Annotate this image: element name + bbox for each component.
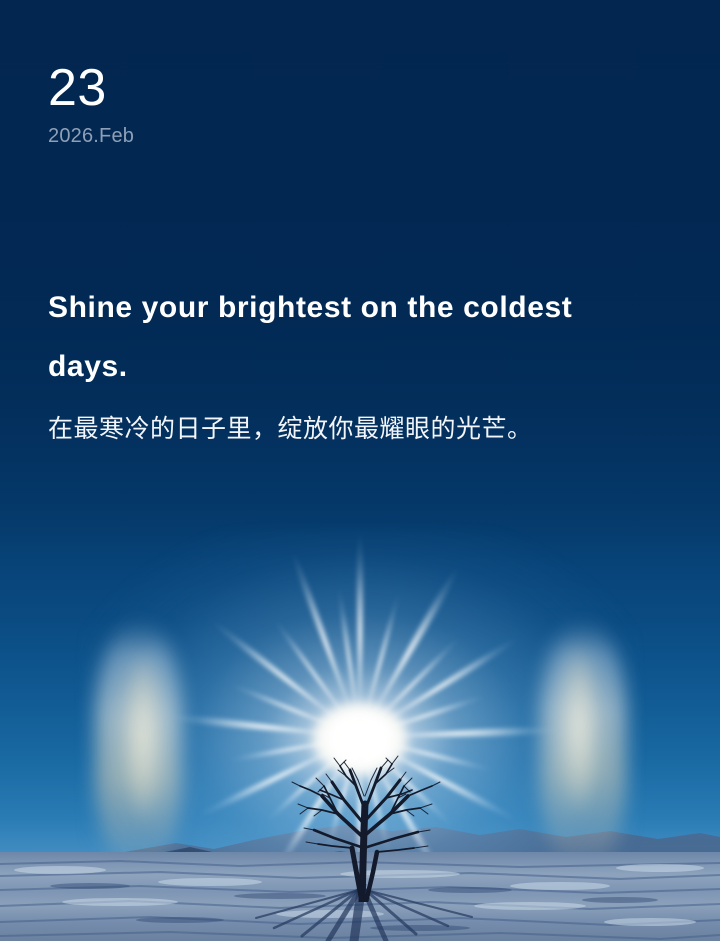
date-year-month: 2026.Feb [48,126,134,146]
snow-field [0,852,720,941]
quote-subtitle-zh: 在最寒冷的日子里，绽放你最耀眼的光芒。 [48,412,668,446]
quote-headline-en: Shine your brightest on the coldest days… [48,278,648,396]
date-day: 23 [48,62,134,114]
snow-texture [0,852,720,941]
daily-quote-card: 23 2026.Feb Shine your brightest on the … [0,0,720,941]
date-block: 23 2026.Feb [48,62,134,146]
